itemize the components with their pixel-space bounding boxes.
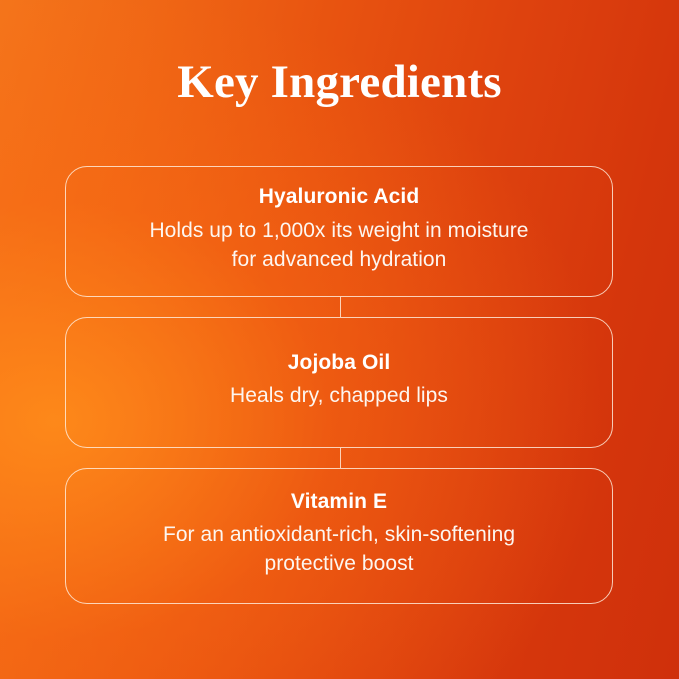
ingredient-card-vitamin-e: Vitamin E For an antioxidant-rich, skin-… — [65, 468, 613, 604]
ingredient-card-hyaluronic-acid: Hyaluronic Acid Holds up to 1,000x its w… — [65, 166, 613, 297]
ingredient-description: For an antioxidant-rich, skin-softening … — [149, 521, 529, 579]
page-title: Key Ingredients — [177, 58, 502, 107]
ingredient-title: Vitamin E — [291, 489, 387, 515]
ingredient-description: Holds up to 1,000x its weight in moistur… — [149, 217, 529, 275]
card-connector-line — [340, 297, 341, 317]
card-connector-line — [340, 448, 341, 468]
ingredient-description: Heals dry, chapped lips — [230, 382, 448, 411]
ingredient-card-jojoba-oil: Jojoba Oil Heals dry, chapped lips — [65, 317, 613, 448]
ingredient-title: Hyaluronic Acid — [259, 184, 420, 210]
ingredient-card-stack: Hyaluronic Acid Holds up to 1,000x its w… — [65, 166, 613, 604]
ingredient-title: Jojoba Oil — [288, 350, 391, 376]
key-ingredients-infographic: Key Ingredients Hyaluronic Acid Holds up… — [0, 0, 679, 679]
page-title-container: Key Ingredients — [0, 58, 679, 107]
